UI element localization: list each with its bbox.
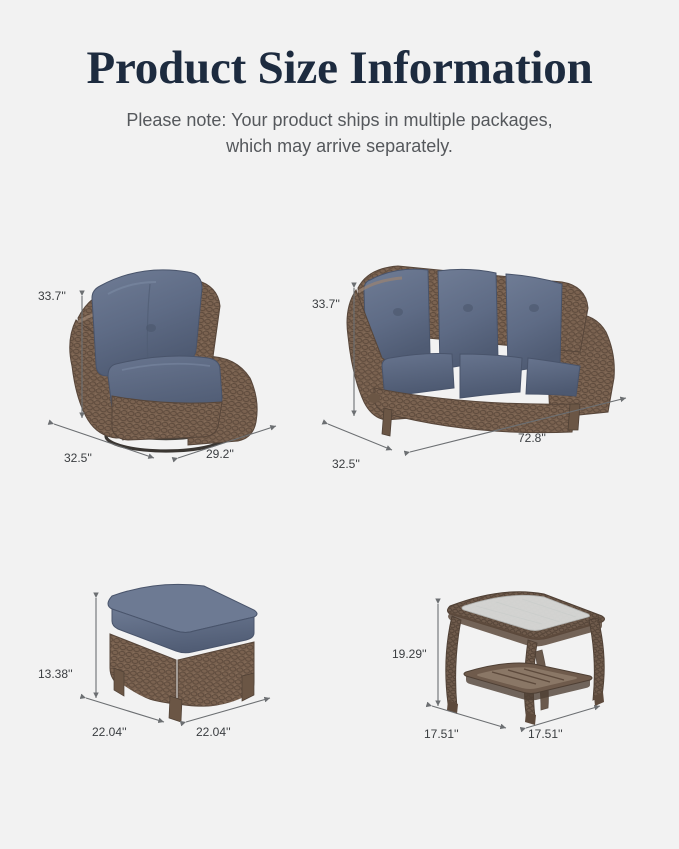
product-figure-ottoman: 13.38'' 22.04'' 22.04'' [38,572,338,742]
product-figure-side-table: 19.29'' 17.51'' 17.51'' [392,572,657,742]
table-height-label: 19.29'' [392,647,427,661]
table-dimension-depth: 17.51'' [526,706,600,741]
table-depth-label: 17.51'' [528,727,563,741]
shipping-note-line-2: which may arrive separately. [0,133,679,159]
table-dimension-width: 17.51'' [424,706,506,741]
table-dimension-height: 19.29'' [392,604,438,706]
chair-front-skirt [112,396,222,440]
table-width-label: 17.51'' [424,727,459,741]
shipping-note-line-1: Please note: Your product ships in multi… [0,107,679,133]
shipping-note: Please note: Your product ships in multi… [0,107,679,159]
chair-depth-label: 29.2'' [206,447,234,461]
sofa-width-label: 72.8'' [518,431,546,445]
ottoman-width-label: 22.04'' [92,725,127,739]
ottoman-depth-label: 22.04'' [196,725,231,739]
product-figure-sofa: 33.7'' 32.5'' 72.8'' [312,246,657,486]
ottoman-dimension-height: 13.38'' [38,598,96,698]
header: Product Size Information Please note: Yo… [0,44,679,160]
chair-width-label: 32.5'' [64,451,92,465]
page-title: Product Size Information [0,44,679,93]
sofa-dimension-height: 33.7'' [312,288,354,416]
sofa-height-label: 33.7'' [312,297,340,311]
ottoman-height-label: 13.38'' [38,667,73,681]
product-figure-swivel-chair: 33.7'' 32.5'' 29.2'' [38,246,323,486]
table-lower-shelf [464,663,592,701]
sofa-depth-label: 32.5'' [332,457,360,471]
chair-height-label: 33.7'' [38,289,66,303]
